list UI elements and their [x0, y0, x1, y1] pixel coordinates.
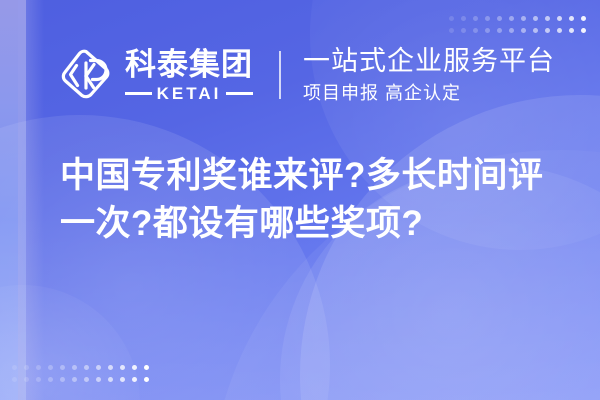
- decorative-dot-grid-bottom-left: [12, 365, 149, 382]
- slogan-primary: 一站式企业服务平台: [303, 46, 555, 76]
- brand-name-en: KETAI: [157, 85, 222, 102]
- background-left-band: [0, 0, 26, 400]
- title-line-2: 一次?都设有哪些奖项?: [60, 200, 560, 248]
- banner-header: 科泰集团 KETAI 一站式企业服务平台 项目申报 高企认定: [60, 38, 555, 112]
- brand-wordmark: 科泰集团 KETAI: [125, 49, 253, 102]
- brand-logo[interactable]: 科泰集团 KETAI: [60, 48, 253, 102]
- title-line-1: 中国专利奖谁来评?多长时间评: [60, 152, 560, 200]
- brand-name-en-row: KETAI: [125, 85, 253, 102]
- banner-title: 中国专利奖谁来评?多长时间评 一次?都设有哪些奖项?: [60, 152, 560, 247]
- ketai-diamond-kp-logo-icon: [60, 48, 112, 102]
- background-left-band-glow: [18, 0, 44, 400]
- brand-name-cn: 科泰集团: [125, 49, 253, 80]
- dot-row: [12, 365, 149, 370]
- dot-row: [12, 377, 149, 382]
- background-blob-bottom-left-small: [0, 285, 140, 400]
- wordmark-rule-left: [125, 92, 152, 95]
- promo-banner: 科泰集团 KETAI 一站式企业服务平台 项目申报 高企认定 中国专利奖谁来评?…: [0, 0, 600, 400]
- background-curve-right: [300, 95, 600, 400]
- header-divider: [279, 51, 281, 99]
- dot-row: [449, 16, 586, 21]
- slogan-block: 一站式企业服务平台 项目申报 高企认定: [303, 46, 555, 104]
- decorative-dot-grid-top-right: [449, 16, 586, 33]
- slogan-secondary: 项目申报 高企认定: [303, 84, 555, 104]
- wordmark-rule-right: [226, 92, 253, 95]
- dot-row: [449, 28, 586, 33]
